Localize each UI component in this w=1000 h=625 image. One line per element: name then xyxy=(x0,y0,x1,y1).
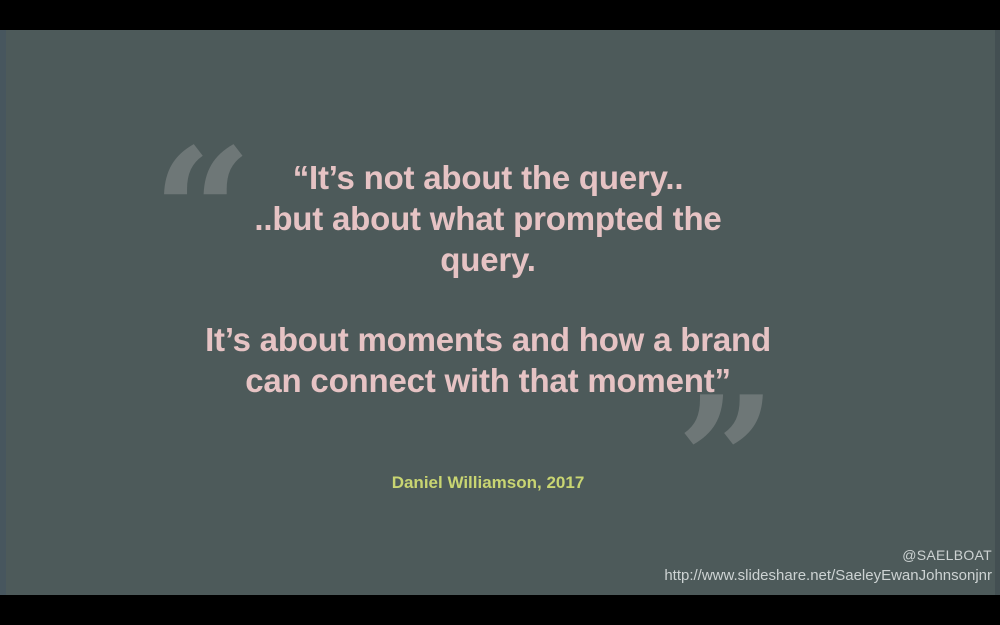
presentation-slide: “ ” “It’s not about the query.. ..but ab… xyxy=(0,0,1000,625)
canvas-edge-strip-right xyxy=(995,30,1000,595)
letterbox-bar-bottom xyxy=(0,595,1000,625)
quote-line: can connect with that moment” xyxy=(178,360,798,401)
footer-social-handle: @SAELBOAT xyxy=(392,545,992,565)
canvas-edge-strip-left xyxy=(0,30,6,595)
quote-line: “It’s not about the query.. xyxy=(178,157,798,198)
footer-url: http://www.slideshare.net/SaeleyEwanJohn… xyxy=(392,565,992,586)
paragraph-spacer xyxy=(178,280,798,319)
quote-attribution: Daniel Williamson, 2017 xyxy=(178,473,798,493)
quote-line: query. xyxy=(178,239,798,280)
quote-text-block: “It’s not about the query.. ..but about … xyxy=(178,157,798,401)
slide-footer: @SAELBOAT http://www.slideshare.net/Sael… xyxy=(392,545,992,586)
quote-line: ..but about what prompted the xyxy=(178,198,798,239)
letterbox-bar-top xyxy=(0,0,1000,30)
quote-line: It’s about moments and how a brand xyxy=(178,319,798,360)
slide-canvas: “ ” “It’s not about the query.. ..but ab… xyxy=(0,30,1000,595)
